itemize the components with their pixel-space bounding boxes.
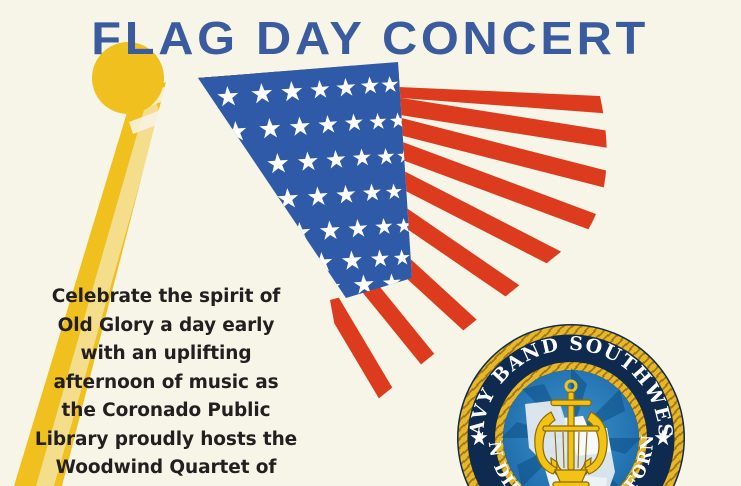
flag-canton: [198, 62, 413, 298]
body-line: Celebrate the spirit of: [18, 283, 314, 312]
body-line: afternoon of music as: [18, 369, 314, 398]
navy-band-southwest-seal: NAVY BAND SOUTHWEST SAN DIEGO, CALIFORNI…: [455, 322, 687, 486]
body-line: with an uplifting: [18, 340, 314, 369]
body-line: Old Glory a day early: [18, 312, 314, 341]
poster-title-band: FLAG DAY CONCERT: [0, 12, 741, 64]
body-line: Library proudly hosts the: [18, 426, 314, 455]
poster-body-text: Celebrate the spirit of Old Glory a day …: [18, 283, 314, 483]
page-title: FLAG DAY CONCERT: [92, 15, 650, 61]
body-line: Woodwind Quartet of: [18, 454, 314, 483]
flag-day-concert-poster: FLAG DAY CONCERT Celebrate the spirit of…: [0, 0, 741, 486]
body-line: the Coronado Public: [18, 397, 314, 426]
